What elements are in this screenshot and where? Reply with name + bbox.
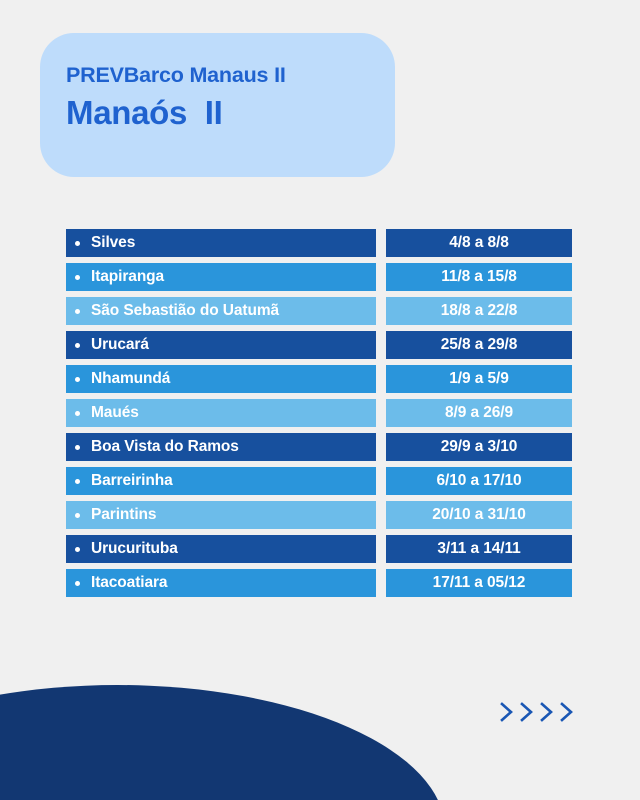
row-period-label: 1/9 a 5/9 bbox=[449, 371, 508, 387]
row-municipality-label: Barreirinha bbox=[91, 473, 173, 489]
row-municipality-cell: Maués bbox=[66, 399, 376, 427]
row-municipality-cell: Itapiranga bbox=[66, 263, 376, 291]
chevron-right-icon bbox=[558, 701, 576, 723]
bullet-icon bbox=[75, 479, 80, 484]
header-card: PREVBarco Manaus II Manaós II bbox=[40, 33, 395, 177]
row-municipality-label: Itacoatiara bbox=[91, 575, 167, 591]
row-period-cell: 4/8 a 8/8 bbox=[386, 229, 572, 257]
bullet-icon bbox=[75, 547, 80, 552]
bullet-icon bbox=[75, 309, 80, 314]
row-municipality-cell: Urucará bbox=[66, 331, 376, 359]
row-period-label: 3/11 a 14/11 bbox=[437, 541, 520, 557]
bullet-icon bbox=[75, 275, 80, 280]
table-row: Itacoatiara17/11 a 05/12 bbox=[66, 569, 572, 597]
row-period-cell: 1/9 a 5/9 bbox=[386, 365, 572, 393]
chevron-right-icon bbox=[518, 701, 536, 723]
row-municipality-label: Maués bbox=[91, 405, 139, 421]
header-subtitle: PREVBarco Manaus II bbox=[66, 63, 286, 88]
row-municipality-label: Parintins bbox=[91, 507, 156, 523]
row-municipality-cell: Barreirinha bbox=[66, 467, 376, 495]
row-period-cell: 17/11 a 05/12 bbox=[386, 569, 572, 597]
bullet-icon bbox=[75, 445, 80, 450]
bullet-icon bbox=[75, 411, 80, 416]
row-period-cell: 6/10 a 17/10 bbox=[386, 467, 572, 495]
row-period-cell: 25/8 a 29/8 bbox=[386, 331, 572, 359]
row-period-cell: 11/8 a 15/8 bbox=[386, 263, 572, 291]
row-period-cell: 8/9 a 26/9 bbox=[386, 399, 572, 427]
row-period-label: 25/8 a 29/8 bbox=[441, 337, 517, 353]
table-row: Parintins20/10 a 31/10 bbox=[66, 501, 572, 529]
table-row: Maués8/9 a 26/9 bbox=[66, 399, 572, 427]
row-period-label: 29/9 a 3/10 bbox=[441, 439, 517, 455]
row-period-cell: 18/8 a 22/8 bbox=[386, 297, 572, 325]
row-municipality-label: Nhamundá bbox=[91, 371, 170, 387]
table-row: Silves4/8 a 8/8 bbox=[66, 229, 572, 257]
row-municipality-label: Silves bbox=[91, 235, 135, 251]
table-row: Nhamundá1/9 a 5/9 bbox=[66, 365, 572, 393]
row-period-label: 17/11 a 05/12 bbox=[433, 575, 526, 591]
row-municipality-cell: Boa Vista do Ramos bbox=[66, 433, 376, 461]
table-row: Barreirinha6/10 a 17/10 bbox=[66, 467, 572, 495]
chevron-right-icon bbox=[538, 701, 556, 723]
row-period-label: 11/8 a 15/8 bbox=[441, 269, 517, 285]
chevron-right-icon bbox=[498, 701, 516, 723]
row-municipality-label: Boa Vista do Ramos bbox=[91, 439, 239, 455]
table-row: São Sebastião do Uatumã18/8 a 22/8 bbox=[66, 297, 572, 325]
poster-canvas: PREVBarco Manaus II Manaós II Silves4/8 … bbox=[0, 0, 640, 800]
row-period-cell: 20/10 a 31/10 bbox=[386, 501, 572, 529]
row-municipality-label: São Sebastião do Uatumã bbox=[91, 303, 279, 319]
row-period-cell: 3/11 a 14/11 bbox=[386, 535, 572, 563]
chevron-group bbox=[498, 701, 576, 723]
row-period-cell: 29/9 a 3/10 bbox=[386, 433, 572, 461]
row-municipality-label: Urucurituba bbox=[91, 541, 178, 557]
row-municipality-label: Itapiranga bbox=[91, 269, 164, 285]
row-municipality-label: Urucará bbox=[91, 337, 149, 353]
row-municipality-cell: Itacoatiara bbox=[66, 569, 376, 597]
table-row: Urucará25/8 a 29/8 bbox=[66, 331, 572, 359]
row-municipality-cell: Parintins bbox=[66, 501, 376, 529]
page-title: Manaós II bbox=[66, 94, 223, 132]
row-period-label: 4/8 a 8/8 bbox=[449, 235, 508, 251]
row-period-label: 6/10 a 17/10 bbox=[437, 473, 522, 489]
table-row: Boa Vista do Ramos29/9 a 3/10 bbox=[66, 433, 572, 461]
row-municipality-cell: Silves bbox=[66, 229, 376, 257]
row-period-label: 20/10 a 31/10 bbox=[432, 507, 526, 523]
bullet-icon bbox=[75, 581, 80, 586]
bullet-icon bbox=[75, 513, 80, 518]
row-period-label: 8/9 a 26/9 bbox=[445, 405, 513, 421]
row-municipality-cell: Urucurituba bbox=[66, 535, 376, 563]
table-row: Itapiranga11/8 a 15/8 bbox=[66, 263, 572, 291]
bullet-icon bbox=[75, 241, 80, 246]
row-municipality-cell: São Sebastião do Uatumã bbox=[66, 297, 376, 325]
bullet-icon bbox=[75, 343, 80, 348]
schedule-list: Silves4/8 a 8/8Itapiranga11/8 a 15/8São … bbox=[66, 229, 572, 597]
row-municipality-cell: Nhamundá bbox=[66, 365, 376, 393]
decorative-ellipse bbox=[0, 685, 445, 800]
bullet-icon bbox=[75, 377, 80, 382]
row-period-label: 18/8 a 22/8 bbox=[441, 303, 517, 319]
table-row: Urucurituba3/11 a 14/11 bbox=[66, 535, 572, 563]
